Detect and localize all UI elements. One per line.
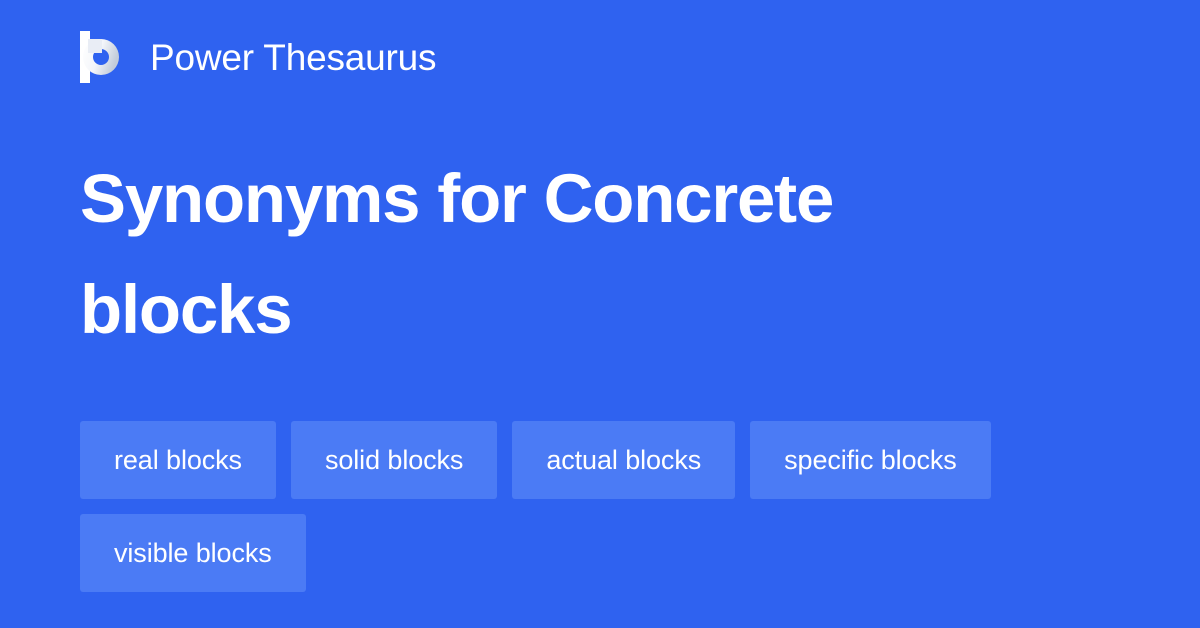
- brand-header[interactable]: Power Thesaurus: [80, 28, 436, 86]
- synonym-chip[interactable]: actual blocks: [512, 421, 735, 499]
- synonym-chip[interactable]: real blocks: [80, 421, 276, 499]
- brand-name: Power Thesaurus: [150, 39, 436, 76]
- power-thesaurus-b-logo-icon: [80, 31, 126, 83]
- synonym-chip[interactable]: solid blocks: [291, 421, 497, 499]
- page-title-line-1: Synonyms for Concrete: [80, 160, 833, 237]
- og-card: Power Thesaurus Synonyms for Concrete bl…: [0, 0, 1200, 628]
- synonym-chip-list: real blocks solid blocks actual blocks s…: [80, 421, 1120, 592]
- synonym-chip[interactable]: visible blocks: [80, 514, 306, 592]
- page-title-line-2: blocks: [80, 271, 291, 348]
- page-title: Synonyms for Concrete blocks: [80, 143, 1090, 365]
- synonym-chip[interactable]: specific blocks: [750, 421, 991, 499]
